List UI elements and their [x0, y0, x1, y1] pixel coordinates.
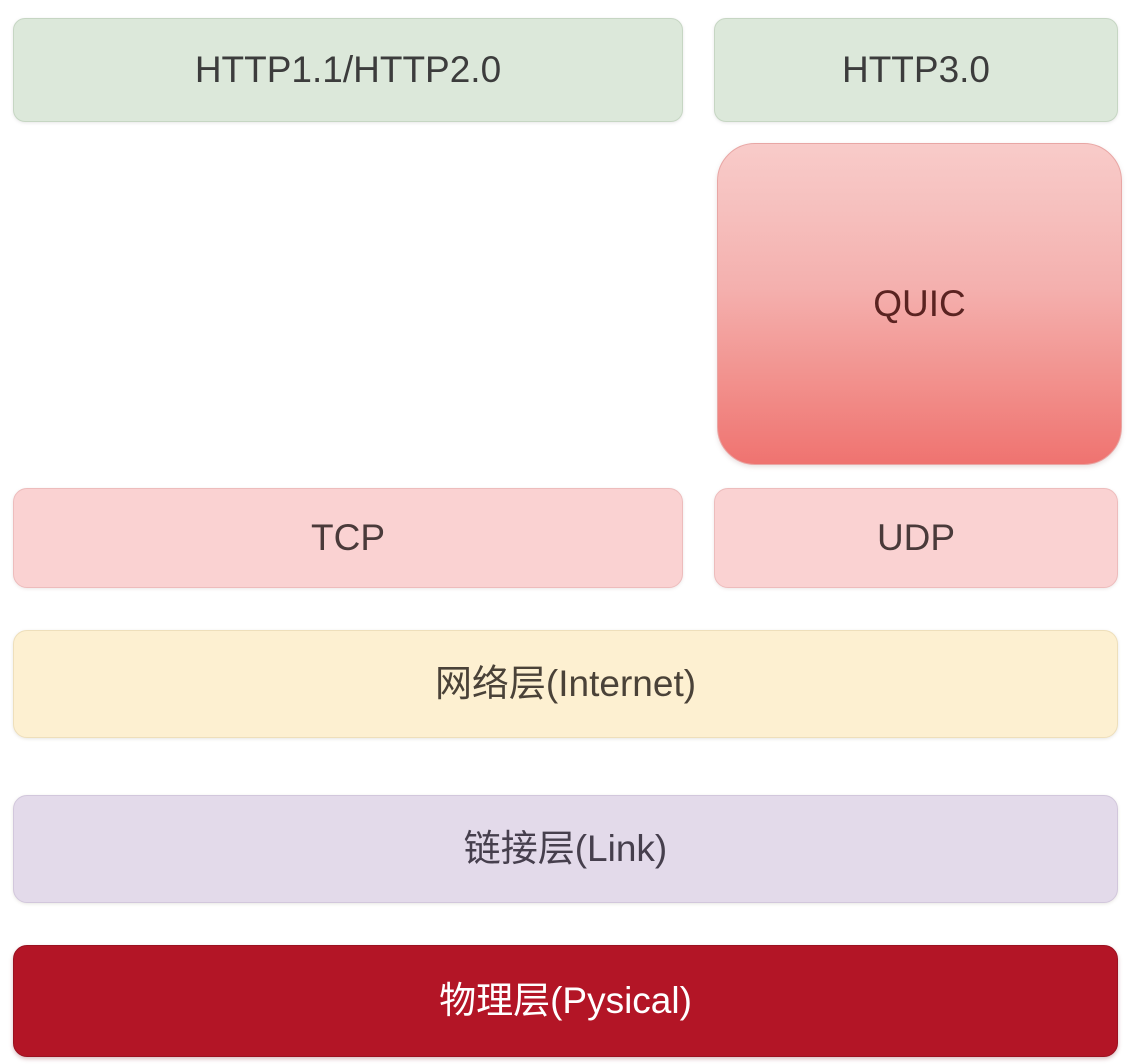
protocol-stack-diagram: HTTP1.1/HTTP2.0 HTTP3.0 QUIC TCP UDP 网络层… — [0, 0, 1142, 1064]
node-udp-label: UDP — [877, 518, 955, 559]
node-http3-label: HTTP3.0 — [842, 50, 990, 91]
node-tcp: TCP — [13, 488, 683, 588]
node-tcp-label: TCP — [311, 518, 385, 559]
node-quic: QUIC — [717, 143, 1122, 465]
node-link-layer: 链接层(Link) — [13, 795, 1118, 903]
node-physical-layer-label: 物理层(Pysical) — [439, 981, 692, 1022]
node-internet-layer: 网络层(Internet) — [13, 630, 1118, 738]
node-http1-http2-label: HTTP1.1/HTTP2.0 — [195, 50, 501, 91]
node-http3: HTTP3.0 — [714, 18, 1118, 122]
node-link-layer-label: 链接层(Link) — [464, 829, 668, 870]
node-quic-label: QUIC — [873, 284, 966, 325]
node-http1-http2: HTTP1.1/HTTP2.0 — [13, 18, 683, 122]
node-udp: UDP — [714, 488, 1118, 588]
node-internet-layer-label: 网络层(Internet) — [435, 664, 696, 705]
node-physical-layer: 物理层(Pysical) — [13, 945, 1118, 1057]
